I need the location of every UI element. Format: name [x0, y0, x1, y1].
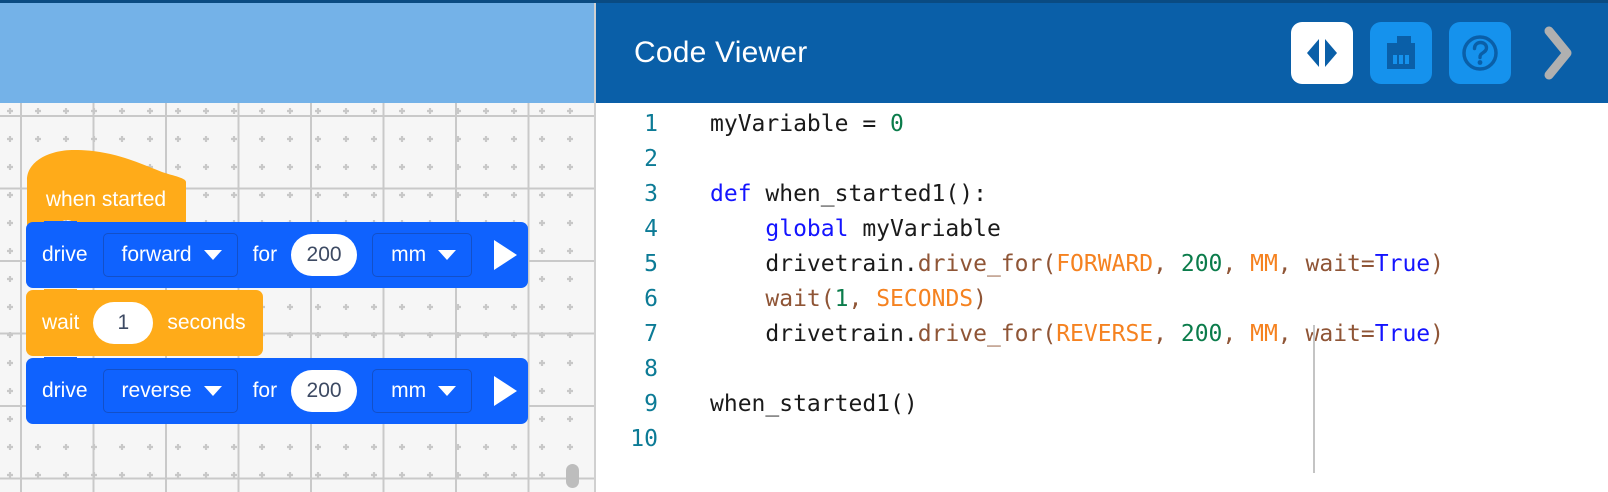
code-line-text: when_started1() [658, 391, 918, 417]
question-mark-icon [1460, 33, 1500, 73]
blocks-scrollbar-thumb[interactable] [566, 464, 579, 488]
dropdown-unit-reverse-value: mm [391, 379, 426, 403]
code-line[interactable]: 3def when_started1(): [596, 181, 1608, 216]
line-number: 2 [596, 146, 658, 172]
chevron-down-icon [204, 386, 222, 396]
code-token: drivetrain. [710, 321, 918, 347]
code-line[interactable]: 2 [596, 146, 1608, 181]
code-token: wait= [1306, 321, 1375, 347]
dropdown-direction-reverse-value: reverse [122, 379, 192, 403]
code-token: True [1375, 321, 1430, 347]
code-viewer-actions [1291, 17, 1608, 89]
block-drive-reverse-label-start: drive [42, 379, 88, 403]
code-token: , [1222, 251, 1250, 277]
block-when-started[interactable]: when started [26, 148, 186, 226]
code-line[interactable]: 8 [596, 356, 1608, 391]
chevron-down-icon [438, 386, 456, 396]
blocks-workspace-panel: when started drive forward for 200 mm [0, 0, 596, 492]
code-line-text: global myVariable [658, 216, 1001, 242]
code-token: def [710, 181, 765, 207]
battery-icon [1384, 33, 1418, 73]
input-drive-forward-distance[interactable]: 200 [291, 234, 357, 276]
code-token: SECONDS [876, 286, 973, 312]
code-token [710, 216, 765, 242]
block-drive-reverse[interactable]: drive reverse for 200 mm [26, 358, 528, 424]
block-wait-label-start: wait [42, 311, 79, 335]
input-wait-seconds[interactable]: 1 [93, 302, 153, 344]
code-token: 0 [890, 111, 904, 137]
block-when-started-label: when started [26, 188, 186, 212]
code-line[interactable]: 4 global myVariable [596, 216, 1608, 251]
code-token: , [1222, 321, 1250, 347]
code-line[interactable]: 5 drivetrain.drive_for(FORWARD, 200, MM,… [596, 251, 1608, 286]
line-number: 4 [596, 216, 658, 242]
code-token: MM [1250, 321, 1278, 347]
block-wait-label-end: seconds [167, 311, 245, 335]
code-viewer-title: Code Viewer [634, 36, 807, 70]
code-token: REVERSE [1056, 321, 1153, 347]
code-token: True [1375, 251, 1430, 277]
code-token: , [1153, 251, 1181, 277]
input-drive-reverse-distance[interactable]: 200 [291, 370, 357, 412]
collapse-panel-button[interactable] [1528, 17, 1588, 89]
chevron-right-icon [1537, 23, 1579, 83]
block-wait[interactable]: wait 1 seconds [26, 290, 263, 356]
line-number: 1 [596, 111, 658, 137]
code-line[interactable]: 9when_started1() [596, 391, 1608, 426]
code-token: wait [765, 286, 820, 312]
code-line[interactable]: 6 wait(1, SECONDS) [596, 286, 1608, 321]
block-drive-forward-label-for: for [253, 243, 278, 267]
code-token: global [765, 216, 848, 242]
code-token: 1 [835, 286, 849, 312]
line-number: 9 [596, 391, 658, 417]
dropdown-unit-forward-value: mm [391, 243, 426, 267]
indent-guide [1313, 325, 1315, 473]
code-token: 200 [1181, 251, 1223, 277]
code-token: ) [1430, 251, 1444, 277]
blocks-vertical-scrollbar[interactable] [574, 103, 588, 492]
chevron-down-icon [438, 250, 456, 260]
code-token: 200 [1181, 321, 1223, 347]
block-drive-forward-label-start: drive [42, 243, 88, 267]
code-token [710, 286, 765, 312]
play-arrow-icon[interactable] [494, 376, 517, 406]
code-viewer-header: Code Viewer [596, 0, 1608, 103]
blocks-toolbar [0, 0, 596, 103]
dropdown-direction-reverse[interactable]: reverse [103, 369, 238, 413]
line-number: 10 [596, 426, 658, 452]
code-line-text: myVariable = 0 [658, 111, 904, 137]
line-number: 3 [596, 181, 658, 207]
block-drive-reverse-label-for: for [253, 379, 278, 403]
help-button[interactable] [1449, 22, 1511, 84]
block-script-stack[interactable]: when started drive forward for 200 mm [26, 148, 528, 426]
code-line-text: drivetrain.drive_for(REVERSE, 200, MM, w… [658, 321, 1444, 347]
code-token: when_started1(): [765, 181, 987, 207]
device-battery-button[interactable] [1370, 22, 1432, 84]
code-token: ) [1430, 321, 1444, 347]
code-token: MM [1250, 251, 1278, 277]
line-number: 6 [596, 286, 658, 312]
code-editor-body[interactable]: 1myVariable = 023def when_started1():4 g… [596, 103, 1608, 492]
window-top-edge [0, 0, 1608, 3]
code-token: drive_for [918, 321, 1043, 347]
play-arrow-icon[interactable] [494, 240, 517, 270]
code-token: , [1278, 251, 1306, 277]
code-token: myVariable [848, 216, 1000, 242]
line-number: 8 [596, 356, 658, 382]
code-token: , [849, 286, 877, 312]
app-root: when started drive forward for 200 mm [0, 0, 1608, 492]
code-token: when_started1() [710, 391, 918, 417]
code-token: myVariable = [710, 111, 890, 137]
code-token: drivetrain. [710, 251, 918, 277]
code-lines-container: 1myVariable = 023def when_started1():4 g… [596, 111, 1608, 461]
line-number: 5 [596, 251, 658, 277]
code-token: wait= [1306, 251, 1375, 277]
dropdown-unit-forward[interactable]: mm [372, 233, 472, 277]
code-line[interactable]: 1myVariable = 0 [596, 111, 1608, 146]
dropdown-direction-forward-value: forward [122, 243, 192, 267]
code-token: ( [1042, 321, 1056, 347]
line-number: 7 [596, 321, 658, 347]
block-drive-forward[interactable]: drive forward for 200 mm [26, 222, 528, 288]
code-token: ( [1042, 251, 1056, 277]
code-token: ) [973, 286, 987, 312]
chevron-down-icon [204, 250, 222, 260]
code-line[interactable]: 10 [596, 426, 1608, 461]
dropdown-direction-forward[interactable]: forward [103, 233, 238, 277]
code-token: , [1278, 321, 1306, 347]
code-line-text: def when_started1(): [658, 181, 987, 207]
code-token: ( [821, 286, 835, 312]
code-token: FORWARD [1056, 251, 1153, 277]
code-line-text: drivetrain.drive_for(FORWARD, 200, MM, w… [658, 251, 1444, 277]
code-brackets-icon [1302, 36, 1342, 70]
code-toggle-button[interactable] [1291, 22, 1353, 84]
code-token: drive_for [918, 251, 1043, 277]
code-line-text: wait(1, SECONDS) [658, 286, 987, 312]
code-viewer-panel: Code Viewer [596, 0, 1608, 492]
dropdown-unit-reverse[interactable]: mm [372, 369, 472, 413]
code-line[interactable]: 7 drivetrain.drive_for(REVERSE, 200, MM,… [596, 321, 1608, 356]
code-token: , [1153, 321, 1181, 347]
